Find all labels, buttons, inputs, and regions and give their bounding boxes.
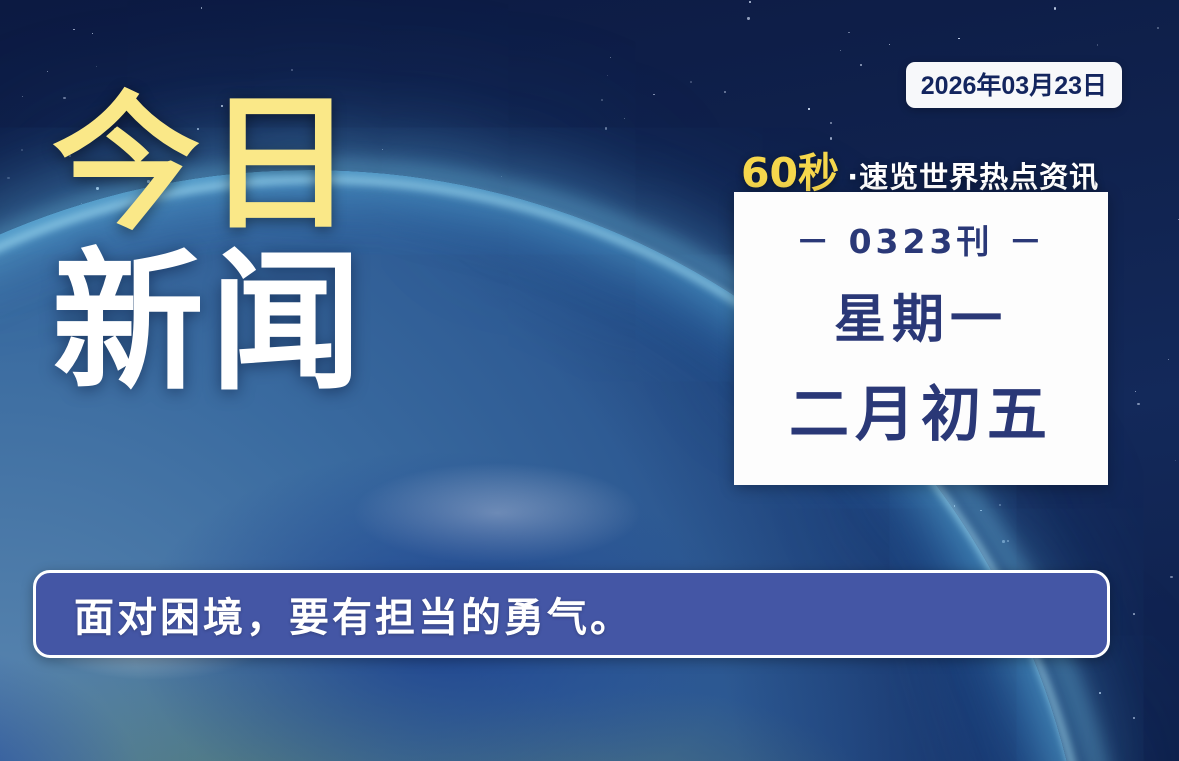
- title-line-xinwen: 新闻: [52, 249, 368, 398]
- tagline: 60秒 ·速览世界热点资讯: [741, 139, 1099, 199]
- date-badge: 2026年03月23日: [906, 62, 1122, 108]
- date-info-card: － 0323刊 － 星期一 二月初五: [734, 192, 1108, 485]
- card-weekday: 星期一: [834, 277, 1008, 352]
- poster-title: 今日 新闻: [52, 92, 368, 398]
- quote-text: 面对困境，要有担当的勇气。: [74, 585, 633, 643]
- tagline-rest: ·速览世界热点资讯: [847, 154, 1099, 196]
- quote-bar: 面对困境，要有担当的勇气。: [33, 570, 1110, 658]
- tagline-seconds: 60秒: [741, 139, 839, 199]
- title-line-jinri: 今日: [52, 92, 368, 237]
- card-issue-number: － 0323刊 －: [796, 215, 1046, 263]
- poster-canvas: 今日 新闻 2026年03月23日 60秒 ·速览世界热点资讯 － 0323刊 …: [0, 0, 1179, 761]
- card-lunar-date: 二月初五: [789, 366, 1053, 453]
